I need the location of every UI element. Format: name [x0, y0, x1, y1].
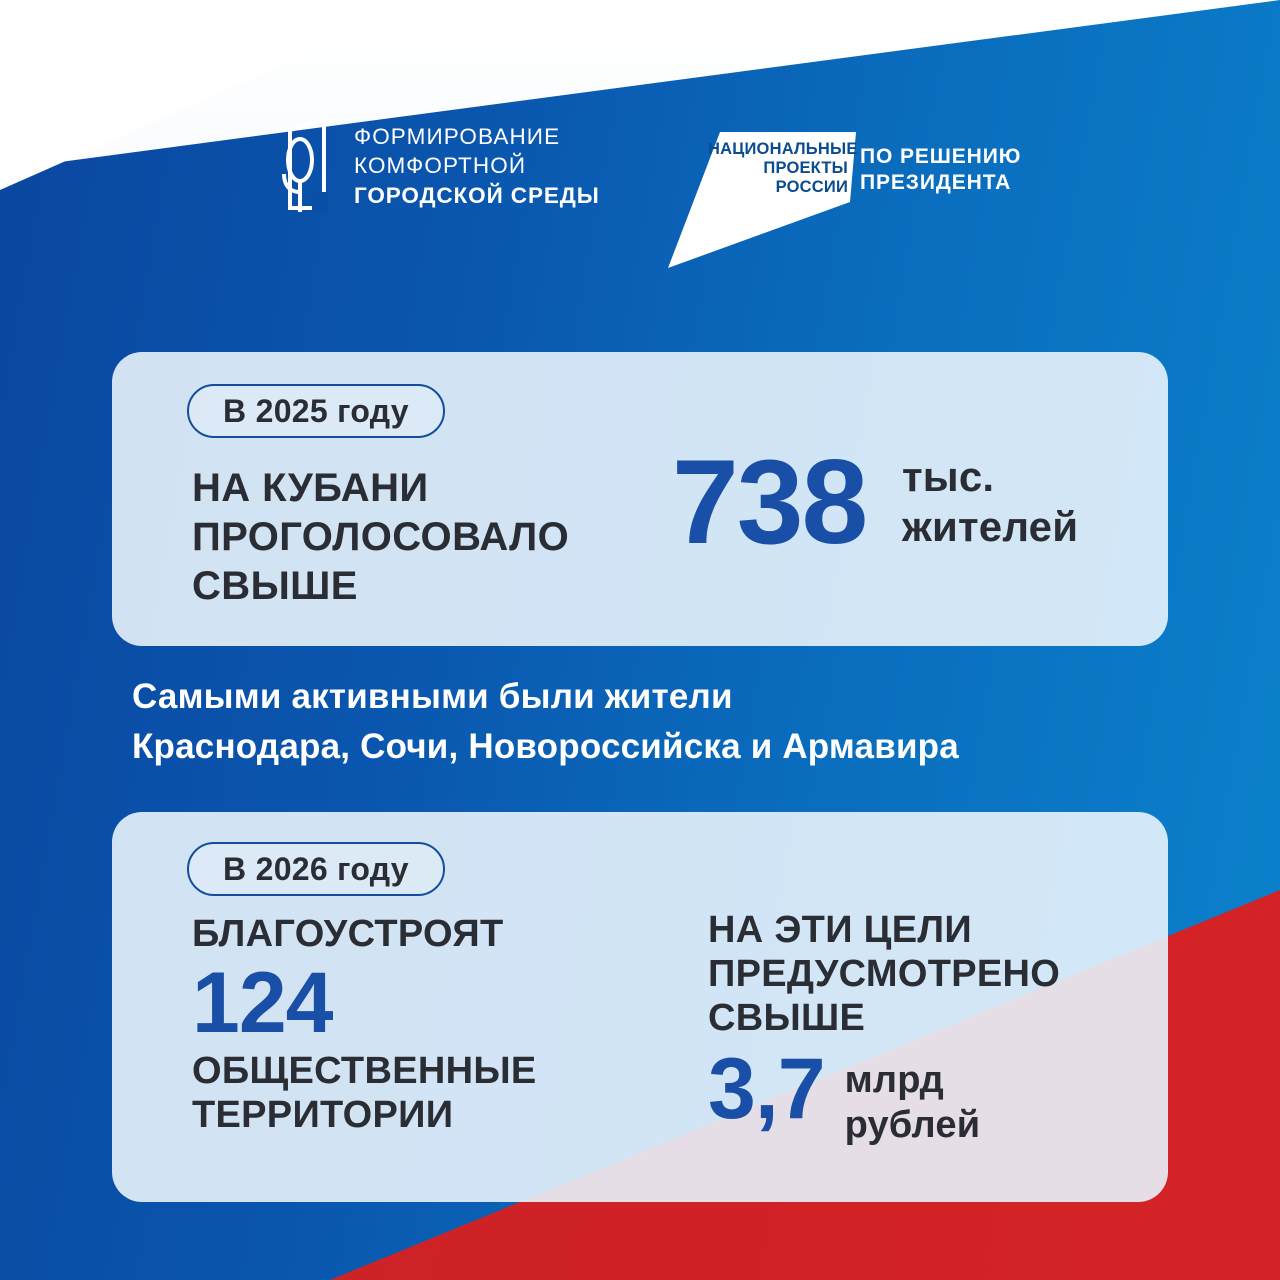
- card-2026-left-tail: ОБЩЕСТВЕННЫЕ ТЕРРИТОРИИ: [192, 1049, 632, 1137]
- year-badge-2026: В 2026 году: [187, 842, 445, 896]
- card-2025-statement-line-2: ПРОГОЛОСОВАЛО: [192, 513, 662, 562]
- card-2025-unit-line-1: тыс.: [902, 452, 1152, 502]
- card-2026-right-block: НА ЭТИ ЦЕЛИ ПРЕДУСМОТРЕНО СВЫШЕ 3,7 млрд…: [708, 908, 1138, 1148]
- national-projects-flag-text: НАЦИОНАЛЬНЫЕ ПРОЕКТЫ РОССИИ: [708, 140, 848, 197]
- header: ФОРМИРОВАНИЕ КОМФОРТНОЙ ГОРОДСКОЙ СРЕДЫ …: [0, 108, 1280, 288]
- card-2026-left-head: БЛАГОУСТРОЯТ: [192, 912, 632, 956]
- card-2026-right-head: НА ЭТИ ЦЕЛИ ПРЕДУСМОТРЕНО СВЫШЕ: [708, 908, 1138, 1040]
- program-logo-line-1: ФОРМИРОВАНИЕ: [354, 122, 600, 151]
- card-2026-right-number: 3,7: [708, 1046, 825, 1134]
- card-2025: В 2025 году НА КУБАНИ ПРОГОЛОСОВАЛО СВЫШ…: [112, 352, 1168, 646]
- year-badge-2025: В 2025 году: [187, 384, 445, 438]
- card-2026-right-unit: млрд рублей: [845, 1046, 981, 1148]
- infographic-poster: ФОРМИРОВАНИЕ КОМФОРТНОЙ ГОРОДСКОЙ СРЕДЫ …: [0, 0, 1280, 1280]
- np-flag-line-1: НАЦИОНАЛЬНЫЕ: [708, 140, 848, 159]
- program-logo-line-3: ГОРОДСКОЙ СРЕДЫ: [354, 181, 600, 210]
- card-2025-statement: НА КУБАНИ ПРОГОЛОСОВАЛО СВЫШЕ: [192, 464, 662, 610]
- card-2026-left-tail-line-1: ОБЩЕСТВЕННЫЕ: [192, 1049, 632, 1093]
- card-2025-unit-line-2: жителей: [902, 502, 1152, 552]
- card-2026-right-unit-line-2: рублей: [845, 1103, 981, 1148]
- middle-note-line-1: Самыми активными были жители: [132, 672, 1192, 722]
- middle-note-line-2: Краснодара, Сочи, Новороссийска и Армави…: [132, 722, 1192, 772]
- program-logo: ФОРМИРОВАНИЕ КОМФОРТНОЙ ГОРОДСКОЙ СРЕДЫ: [272, 116, 600, 216]
- card-2026-left-number: 124: [192, 958, 632, 1049]
- year-badge-2026-label: В 2026 году: [223, 851, 409, 888]
- card-2025-statement-line-3: СВЫШЕ: [192, 562, 662, 611]
- card-2026-left-tail-line-2: ТЕРРИТОРИИ: [192, 1093, 632, 1137]
- card-2026-right-number-row: 3,7 млрд рублей: [708, 1046, 1138, 1148]
- president-line-1: ПО РЕШЕНИЮ: [860, 144, 1021, 170]
- card-2025-unit: тыс. жителей: [902, 452, 1152, 551]
- middle-note: Самыми активными были жители Краснодара,…: [132, 672, 1192, 771]
- program-logo-line-2: КОМФОРТНОЙ: [354, 151, 600, 180]
- card-2026-right-unit-line-1: млрд: [845, 1058, 981, 1103]
- national-projects-logo: НАЦИОНАЛЬНЫЕ ПРОЕКТЫ РОССИИ ПО РЕШЕНИЮ П…: [650, 114, 1070, 284]
- card-2026-right-head-line-3: СВЫШЕ: [708, 996, 1138, 1040]
- year-badge-2025-label: В 2025 году: [223, 393, 409, 430]
- np-flag-line-2: ПРОЕКТЫ: [708, 159, 848, 178]
- card-2026: В 2026 году БЛАГОУСТРОЯТ 124 ОБЩЕСТВЕННЫ…: [112, 812, 1168, 1202]
- door-frame-tree-logo-icon: [272, 116, 334, 216]
- president-line-2: ПРЕЗИДЕНТА: [860, 170, 1021, 196]
- card-2026-left-block: БЛАГОУСТРОЯТ 124 ОБЩЕСТВЕННЫЕ ТЕРРИТОРИИ: [192, 912, 632, 1137]
- program-logo-text: ФОРМИРОВАНИЕ КОМФОРТНОЙ ГОРОДСКОЙ СРЕДЫ: [354, 122, 600, 210]
- card-2025-number: 738: [672, 442, 866, 562]
- card-2026-right-head-line-2: ПРЕДУСМОТРЕНО: [708, 952, 1138, 996]
- np-flag-line-3: РОССИИ: [708, 178, 848, 197]
- card-2026-right-head-line-1: НА ЭТИ ЦЕЛИ: [708, 908, 1138, 952]
- card-2025-statement-line-1: НА КУБАНИ: [192, 464, 662, 513]
- president-decision-text: ПО РЕШЕНИЮ ПРЕЗИДЕНТА: [860, 144, 1021, 197]
